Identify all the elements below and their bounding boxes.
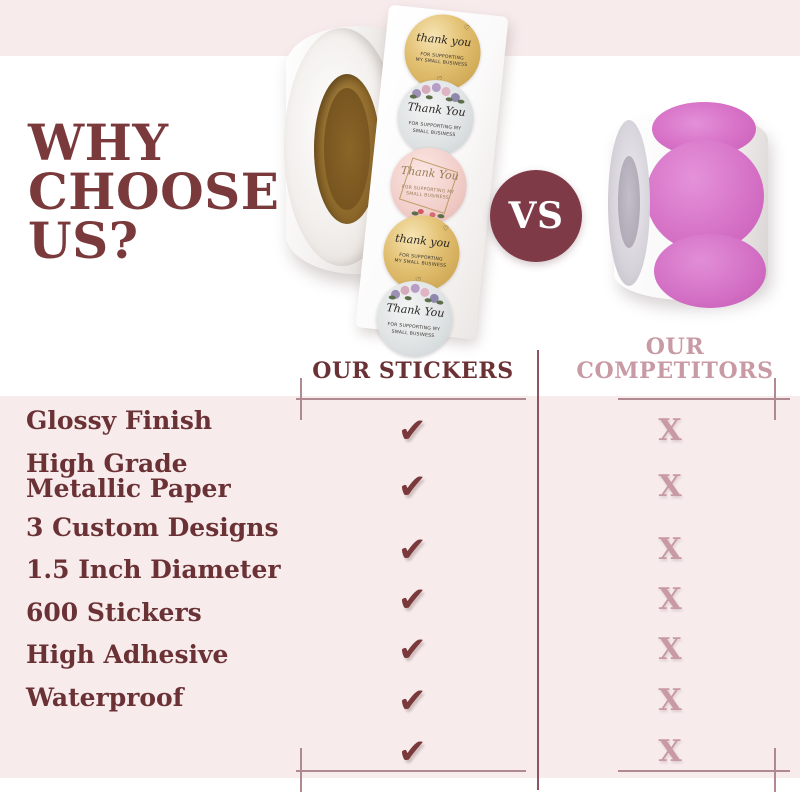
- feature-label: Glossy Finish: [26, 408, 316, 434]
- cross-icon: X: [652, 633, 688, 667]
- footer-tick-theirs: [774, 748, 776, 792]
- checkmark-icon: ✔: [398, 735, 438, 769]
- vs-badge-label: VS: [509, 195, 564, 237]
- cross-icon: X: [652, 583, 688, 617]
- cross-icon: X: [652, 735, 688, 769]
- header-rule-ours: [296, 398, 526, 400]
- leaf-icon: [437, 214, 444, 219]
- competitor-roll-core: [618, 156, 640, 248]
- sticker-script-text: thank you: [406, 30, 483, 49]
- heart-icon: ♡: [442, 225, 450, 233]
- feature-list: Glossy Finish High Grade Metallic Paper …: [26, 408, 316, 727]
- header-tick-theirs: [774, 378, 776, 420]
- feature-label: Waterproof: [26, 685, 316, 711]
- feature-label: 600 Stickers: [26, 600, 316, 626]
- sticker-grey-1: Thank You FOR SUPPORTING MYSMALL BUSINES…: [394, 76, 478, 160]
- page-title-line-3: US?: [28, 216, 298, 265]
- sticker-script-text: thank you: [384, 231, 461, 250]
- competitor-dot-sticker: [654, 234, 766, 308]
- sticker-subtext: FOR SUPPORTING MYSMALL BUSINESS: [400, 121, 469, 141]
- column-divider: [537, 350, 539, 790]
- sticker-subtext: FOR SUPPORTINGMY SMALL BUSINESS: [386, 251, 455, 271]
- sticker-subtext: FOR SUPPORTINGMY SMALL BUSINESS: [407, 50, 476, 70]
- page-title: WHY CHOOSE US?: [28, 118, 298, 265]
- page-title-line-1: WHY: [28, 118, 298, 167]
- feature-label: High Grade Metallic Paper: [26, 451, 316, 502]
- sticker-grey-2: Thank You FOR SUPPORTING MYSMALL BUSINES…: [373, 277, 457, 361]
- vs-badge: VS: [490, 170, 582, 262]
- cross-icon: X: [652, 470, 688, 504]
- checkmark-icon: ✔: [398, 470, 438, 504]
- sticker-subtext: FOR SUPPORTING MYSMALL BUSINESS: [379, 321, 448, 341]
- column-header-theirs-line-2: COMPETITORS: [576, 358, 773, 384]
- sticker-script-text: Thank You: [392, 164, 469, 183]
- cross-icon: X: [652, 414, 688, 448]
- footer-tick-ours: [300, 748, 302, 792]
- column-header-our-stickers: OUR STICKERS: [300, 360, 526, 384]
- sticker-pink-1: Thank You for supporting mysmall busines…: [387, 144, 471, 228]
- cross-icon: X: [652, 533, 688, 567]
- our-sticker-roll-image: ♡ thank you FOR SUPPORTINGMY SMALL BUSIN…: [268, 4, 498, 334]
- column-header-theirs-line-1: OUR: [646, 334, 704, 360]
- column-header-our-competitors: OUR COMPETITORS: [552, 336, 798, 384]
- page-title-line-2: CHOOSE: [28, 167, 298, 216]
- header-rule-theirs: [618, 398, 790, 400]
- cross-icon: X: [652, 684, 688, 718]
- feature-label: 3 Custom Designs: [26, 515, 316, 541]
- checkmark-icon: ✔: [398, 633, 438, 667]
- feature-label: High Adhesive: [26, 642, 316, 668]
- checkmark-icon: ✔: [398, 414, 438, 448]
- feature-label: 1.5 Inch Diameter: [26, 557, 316, 583]
- roll-core-hole: [324, 88, 370, 210]
- footer-rule-theirs: [618, 770, 790, 772]
- checkmark-icon: ✔: [398, 684, 438, 718]
- checkmark-icon: ✔: [398, 583, 438, 617]
- competitor-sticker-roll-image: [600, 108, 786, 310]
- heart-icon: ♡: [463, 24, 471, 32]
- checkmark-icon: ✔: [398, 533, 438, 567]
